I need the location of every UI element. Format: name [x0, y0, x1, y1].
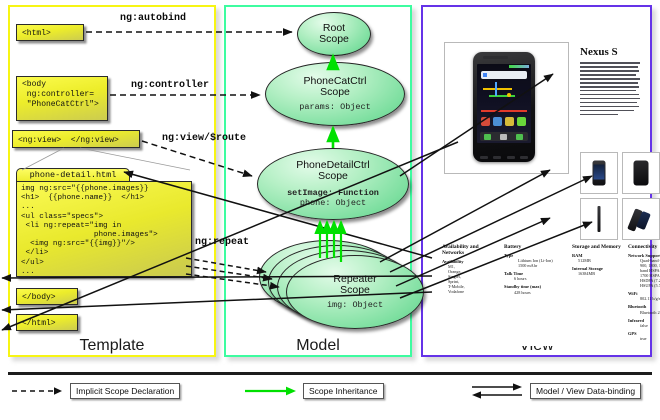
scope-property: phone: Object: [300, 198, 366, 209]
scope-property: params: Object: [299, 102, 370, 113]
spec-row-value: Bluetooth 2.1: [628, 310, 660, 315]
spec-row-value: 512MB: [572, 258, 624, 263]
scope-repeater-stack: Repeater Scope img: Object: [259, 240, 419, 330]
spec-row-value: HSUPA (5.76Mbps): [628, 283, 660, 288]
legend-label: Model / View Data-binding: [530, 383, 641, 399]
label-ng-repeat: ng:repeat: [195, 237, 249, 248]
spec-row-value: false: [628, 323, 660, 328]
article-title: Nexus S: [580, 46, 618, 58]
article-body-text: [580, 62, 640, 118]
scope-root: Root Scope: [297, 12, 371, 56]
scope-property-bold: setImage: Function: [287, 188, 379, 198]
spec-row-value: 16384MB: [572, 271, 624, 276]
spec-group-header: Battery: [504, 244, 562, 250]
spec-group-header: Connectivity: [628, 244, 660, 250]
label-ng-controller: ng:controller: [131, 80, 209, 91]
scope-phonecatctrl: PhoneCatCtrl Scope params: Object: [265, 62, 405, 126]
diagram-canvas: Template <html> <body ng:controller= "Ph…: [0, 0, 660, 420]
scope-phonedetailctrl: PhoneDetailCtrl Scope setImage: Function…: [257, 148, 409, 220]
template-panel-title: Template: [10, 337, 214, 355]
legend-item-implicit-scope-declaration: Implicit Scope Declaration: [10, 382, 180, 400]
scope-property: img: Object: [327, 300, 383, 311]
phone-thumbnail[interactable]: [580, 198, 618, 240]
spec-group: Storage and Memory RAM 512MB Internal St…: [572, 244, 624, 276]
scope-name-line2: Scope: [319, 34, 349, 46]
spec-row-value: Vodafone: [442, 289, 492, 294]
nexus-s-phone-image: [473, 52, 535, 162]
code-ngview-element: <ng:view> </ng:view>: [12, 130, 140, 148]
solid-arrow-icon: [243, 385, 297, 397]
phone-detail-code: img ng:src="{{phone.images}} <h1> {{phon…: [16, 181, 192, 277]
spec-group-header: Availability and Networks: [442, 244, 492, 256]
spec-group: Battery Type Lithium Ion (Li-Ion) 1500 m…: [504, 244, 562, 295]
dashed-arrow-icon: [10, 385, 64, 397]
legend-item-model-view-data-binding: Model / View Data-binding: [470, 382, 641, 400]
scope-name-line2: Scope: [318, 171, 348, 183]
legend-label: Implicit Scope Declaration: [70, 383, 180, 399]
code-html-open: <html>: [16, 24, 84, 41]
spec-group-header: Storage and Memory: [572, 244, 624, 250]
spec-row-value: 802.11 b/g/n: [628, 296, 660, 301]
double-arrow-icon: [470, 382, 524, 400]
spec-row-value: 428 hours: [504, 290, 562, 295]
rendered-phone-page: Nexus S Availability and Networks Availa…: [432, 16, 642, 346]
label-ng-autobind: ng:autobind: [120, 13, 186, 24]
legend-label: Scope Inheritance: [303, 383, 384, 399]
code-body-open: <body ng:controller= "PhoneCatCtrl">: [16, 76, 108, 121]
legend-item-scope-inheritance: Scope Inheritance: [243, 382, 384, 400]
phone-thumbnail[interactable]: [622, 152, 660, 194]
scope-repeater: Repeater Scope img: Object: [286, 255, 424, 329]
phone-thumbnail[interactable]: [580, 152, 618, 194]
phone-specs-table: Availability and Networks Availability M…: [442, 244, 634, 336]
label-ng-view-route: ng:view/$route: [162, 133, 246, 144]
phone-detail-template-card: phone-detail.html img ng:src="{{phone.im…: [16, 168, 192, 278]
legend-divider: [8, 372, 652, 375]
code-body-close: </body>: [16, 288, 78, 305]
spec-row-value: 1500 mAhr: [504, 263, 562, 268]
phone-thumbnail[interactable]: [622, 198, 660, 240]
spec-row-value: 6 hours: [504, 276, 562, 281]
spec-group: Availability and Networks Availability M…: [442, 244, 492, 294]
model-panel-title: Model: [226, 337, 410, 355]
spec-row-value: true: [628, 336, 660, 341]
spec-group: Connectivity Network Support Quad-band G…: [628, 244, 660, 341]
code-html-close: </html>: [16, 314, 78, 331]
phone-hero-image-frame: [444, 42, 569, 174]
scope-name-line2: Scope: [340, 285, 370, 297]
scope-name-line2: Scope: [320, 87, 350, 99]
